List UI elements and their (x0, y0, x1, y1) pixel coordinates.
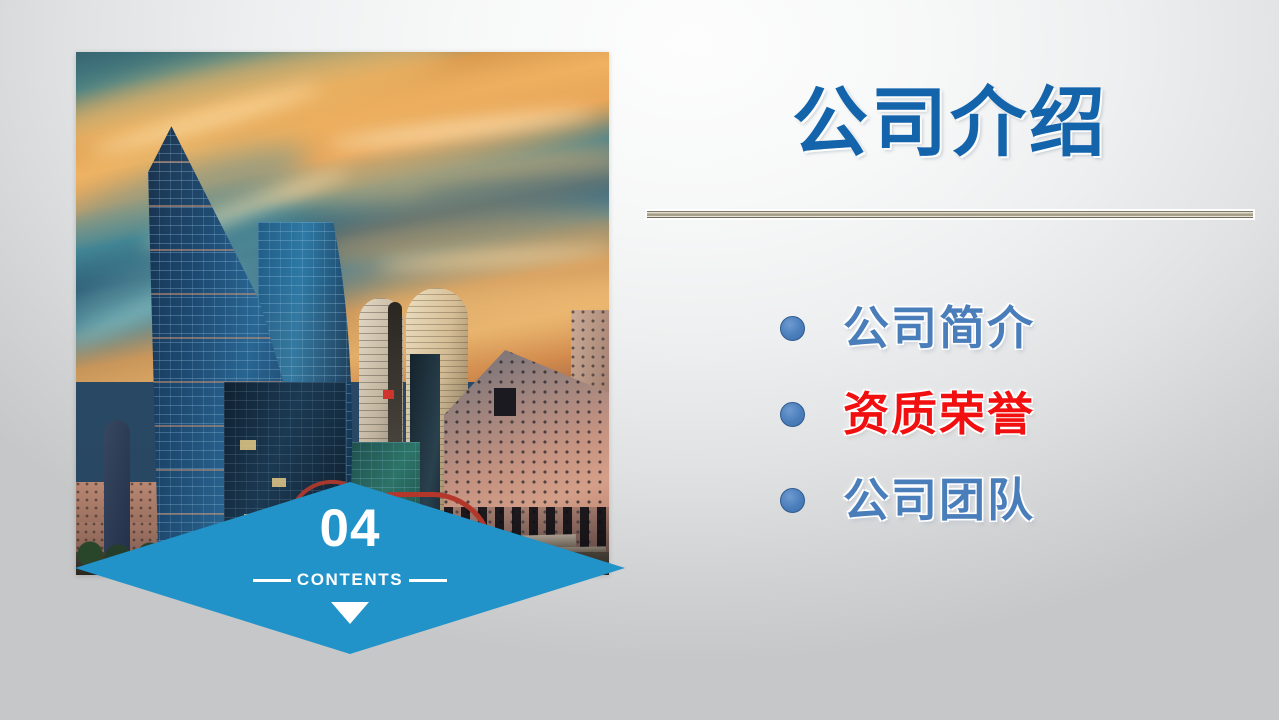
agenda-item-label: 公司简介 (843, 305, 1035, 351)
page-title: 公司介绍 (645, 80, 1255, 165)
building-silver-dark-stripe (388, 302, 402, 442)
divider-bevel (647, 211, 1253, 218)
agenda-item-company-profile[interactable]: 公司简介 (780, 285, 1200, 371)
triangle-down-icon (331, 602, 369, 624)
badge-caption-row: CONTENTS (75, 570, 625, 590)
agenda-item-company-team[interactable]: 公司团队 (780, 457, 1200, 543)
title-divider (645, 209, 1255, 220)
badge-caption: CONTENTS (297, 570, 403, 590)
badge-rule-left (253, 579, 291, 582)
badge-rule-right (409, 579, 447, 582)
facade-red-accent (383, 390, 394, 399)
agenda-item-qualifications-honors[interactable]: 资质荣誉 (780, 371, 1200, 457)
presentation-slide: 04 CONTENTS 公司介绍 公司简介 资质荣誉 公司团队 (0, 0, 1279, 720)
agenda-list: 公司简介 资质荣誉 公司团队 (780, 285, 1200, 543)
bullet-dot-icon (780, 316, 805, 341)
agenda-item-label: 公司团队 (843, 477, 1035, 523)
facade-dark-window (494, 388, 516, 416)
lit-window (240, 440, 256, 450)
lit-window (272, 478, 286, 487)
agenda-item-label: 资质荣誉 (843, 391, 1035, 437)
bullet-dot-icon (780, 402, 805, 427)
bullet-dot-icon (780, 488, 805, 513)
